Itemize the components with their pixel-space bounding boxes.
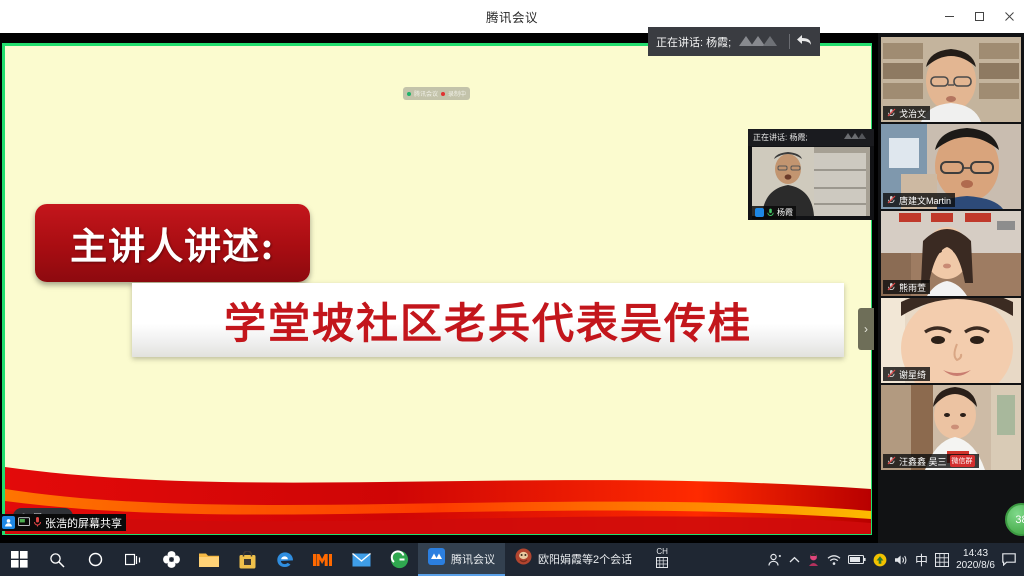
mic-on-icon	[767, 204, 774, 222]
participant-badge: 微信群	[950, 455, 975, 467]
mail-icon[interactable]	[342, 543, 380, 576]
system-tray: 中 14:43 2020/8/6	[768, 543, 1024, 576]
search-icon[interactable]	[38, 543, 76, 576]
video-on-icon	[755, 208, 764, 217]
tencent-meeting-icon	[428, 548, 445, 570]
participant-nameplate: 唐建文Martin	[883, 193, 955, 207]
app-status-dot	[407, 92, 411, 96]
presenter-icon	[2, 516, 15, 529]
update-icon[interactable]	[873, 553, 887, 567]
audio-wave-icon	[737, 33, 783, 51]
wifi-icon[interactable]	[827, 554, 841, 566]
slide-heading: 主讲人讲述:	[70, 216, 275, 270]
language-indicator[interactable]: 中	[915, 550, 928, 569]
shared-screen-region: 腾讯会议 录制中 主讲人讲述: 学堂坡社区老兵代表吴传桂 ☺ ▤ ‹	[0, 41, 874, 537]
maximize-button[interactable]	[964, 0, 994, 33]
participant-nameplate: 熊雨萱	[883, 280, 930, 294]
participant-nameplate: 汪鑫鑫 吴三 微信群	[883, 454, 979, 468]
green-browser-icon[interactable]	[380, 543, 418, 576]
pip-header-text: 正在讲话: 杨霞;	[753, 132, 808, 143]
speaking-banner: 正在讲话: 杨霞;	[648, 27, 820, 56]
mic-muted-icon	[887, 456, 896, 467]
mic-muted-icon	[887, 195, 896, 206]
keyboard-icon	[656, 557, 668, 571]
recording-toolbar[interactable]: 腾讯会议 录制中	[403, 87, 470, 100]
audio-wave-icon	[843, 129, 869, 147]
floating-count-bubble[interactable]: 38	[1005, 503, 1024, 536]
windows-taskbar: 腾讯会议 欧阳娟霞等2个会话 CH	[0, 543, 1024, 576]
action-center-icon[interactable]	[1002, 553, 1016, 566]
participant-tile[interactable]: 汪鑫鑫 吴三 微信群	[881, 385, 1021, 470]
cortana-circle-icon[interactable]	[76, 543, 114, 576]
task-view-icon[interactable]	[114, 543, 152, 576]
chevron-up-icon[interactable]	[789, 556, 800, 564]
window-title: 腾讯会议	[486, 7, 538, 26]
participant-name: 戈治文	[899, 107, 926, 120]
slide-subheading-box: 学堂坡社区老兵代表吴传桂	[132, 283, 844, 357]
ime-indicator[interactable]: CH	[656, 548, 668, 571]
participant-name: 唐建文Martin	[899, 194, 951, 207]
minimize-button[interactable]	[934, 0, 964, 33]
xiaomi-icon[interactable]	[304, 543, 342, 576]
slide-heading-box: 主讲人讲述:	[35, 204, 310, 282]
shared-slide: 腾讯会议 录制中 主讲人讲述: 学堂坡社区老兵代表吴传桂 ☺ ▤ ‹	[5, 46, 871, 534]
share-owner-strip: 张浩的屏幕共享	[0, 514, 126, 531]
participant-tile[interactable]: 戈治文	[881, 37, 1021, 122]
recording-status-label: 录制中	[448, 89, 466, 98]
active-speaker-pip[interactable]: 正在讲话: 杨霞;	[748, 129, 874, 220]
microsoft-store-icon[interactable]	[228, 543, 266, 576]
participant-name: 熊雨萱	[899, 281, 926, 294]
speaking-banner-text: 正在讲话: 杨霞;	[656, 34, 731, 50]
taskbar-app-wechat[interactable]: 欧阳娟霞等2个会话	[505, 543, 642, 576]
window-controls	[934, 0, 1024, 33]
window-titlebar: 腾讯会议	[0, 0, 1024, 33]
clock-time: 14:43	[963, 548, 988, 560]
close-button[interactable]	[994, 0, 1024, 33]
taskbar-app-label: 腾讯会议	[451, 551, 495, 567]
tencent-meeting-window: 腾讯会议	[0, 0, 1024, 576]
back-arrow-icon[interactable]	[796, 33, 812, 50]
file-explorer-icon[interactable]	[190, 543, 228, 576]
taskbar-app-tencent-meeting[interactable]: 腾讯会议	[418, 543, 505, 576]
participant-nameplate: 谢星绮	[883, 367, 930, 381]
taskbar-app-label: 欧阳娟霞等2个会话	[538, 551, 632, 567]
slide-decoration	[5, 459, 871, 534]
participant-name: 汪鑫鑫 吴三	[899, 455, 947, 468]
microsoft-edge-icon[interactable]	[266, 543, 304, 576]
participant-nameplate: 戈治文	[883, 106, 930, 120]
screen-share-icon	[18, 514, 30, 532]
ime-mode-label: CH	[656, 548, 668, 557]
slide-subheading: 学堂坡社区老兵代表吴传桂	[224, 290, 752, 351]
participant-rail: 戈治文	[878, 33, 1024, 543]
meeting-stage: 腾讯会议 录制中 主讲人讲述: 学堂坡社区老兵代表吴传桂 ☺ ▤ ‹	[0, 33, 1024, 543]
recording-app-label: 腾讯会议	[414, 89, 438, 98]
mic-muted-icon	[887, 282, 896, 293]
security-icon[interactable]	[807, 553, 820, 566]
clock-date: 2020/8/6	[956, 560, 995, 572]
bubble-count: 38	[1015, 514, 1024, 526]
participant-tile[interactable]: 熊雨萱	[881, 211, 1021, 296]
mic-muted-icon	[887, 108, 896, 119]
ime-panel-icon[interactable]	[935, 553, 949, 567]
banner-divider	[789, 34, 790, 49]
taskbar-clock[interactable]: 14:43 2020/8/6	[956, 548, 995, 571]
360-safe-icon[interactable]	[152, 543, 190, 576]
people-icon[interactable]	[768, 553, 782, 566]
rail-collapse-handle[interactable]: ›	[858, 308, 874, 350]
share-owner-label: 张浩的屏幕共享	[45, 515, 122, 531]
pip-nameplate: 杨霞	[752, 206, 796, 219]
recording-dot	[441, 92, 445, 96]
wechat-icon	[515, 548, 532, 570]
pip-header: 正在讲话: 杨霞;	[748, 129, 874, 146]
participant-tile[interactable]: 唐建文Martin	[881, 124, 1021, 209]
mic-icon	[33, 514, 42, 532]
participant-tile[interactable]: 谢星绮	[881, 298, 1021, 383]
participant-name: 谢星绮	[899, 368, 926, 381]
battery-icon[interactable]	[848, 554, 866, 565]
windows-start-icon[interactable]	[0, 543, 38, 576]
volume-icon[interactable]	[894, 554, 908, 566]
pip-name-label: 杨霞	[777, 207, 793, 218]
mic-muted-icon	[887, 369, 896, 380]
